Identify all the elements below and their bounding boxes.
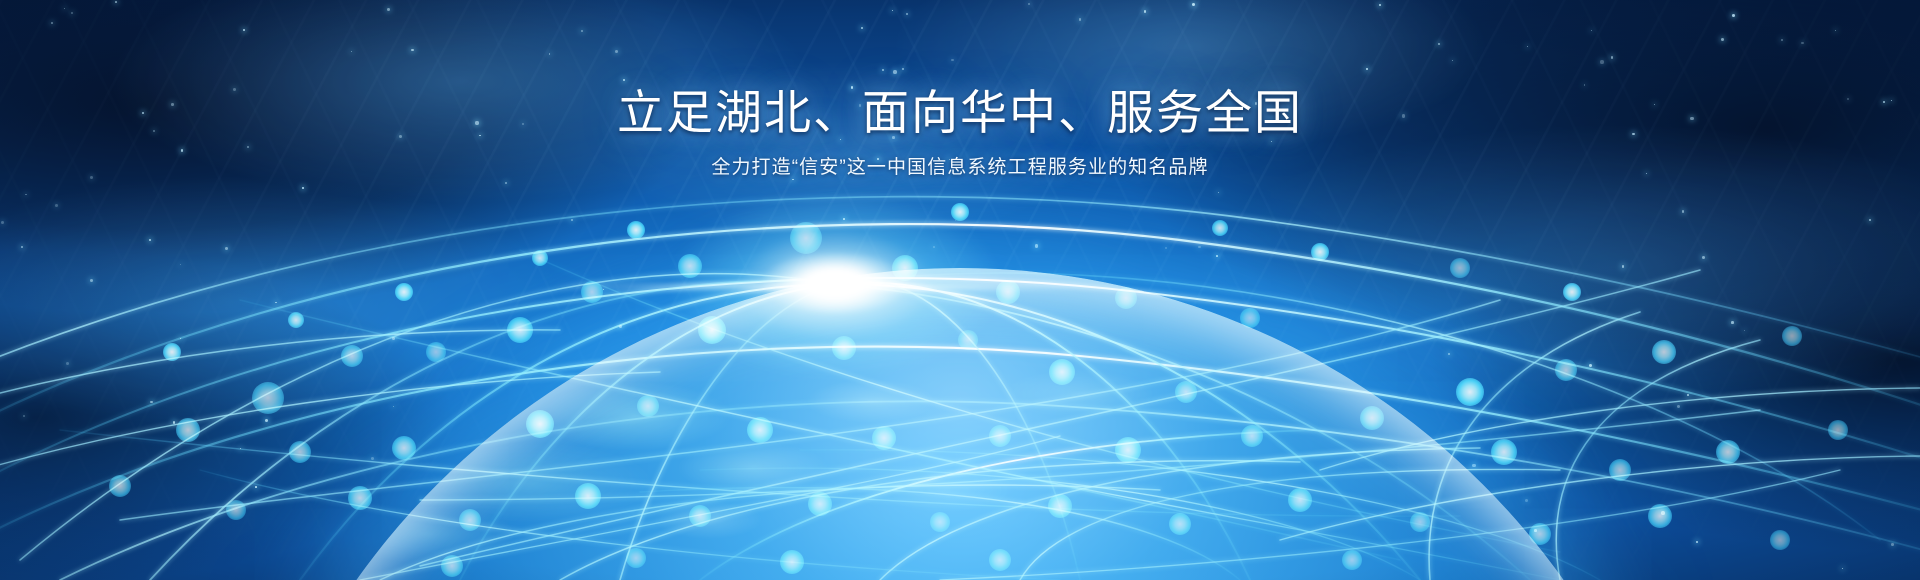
banner-copy: 立足湖北、面向华中、服务全国 全力打造“信安”这一中国信息系统工程服务业的知名品… (0, 0, 1920, 182)
banner-subtitle: 全力打造“信安”这一中国信息系统工程服务业的知名品牌 (0, 155, 1920, 182)
light-burst-core (760, 251, 910, 315)
banner-headline: 立足湖北、面向华中、服务全国 (0, 84, 1920, 141)
hero-banner: 立足湖北、面向华中、服务全国 全力打造“信安”这一中国信息系统工程服务业的知名品… (0, 0, 1920, 580)
